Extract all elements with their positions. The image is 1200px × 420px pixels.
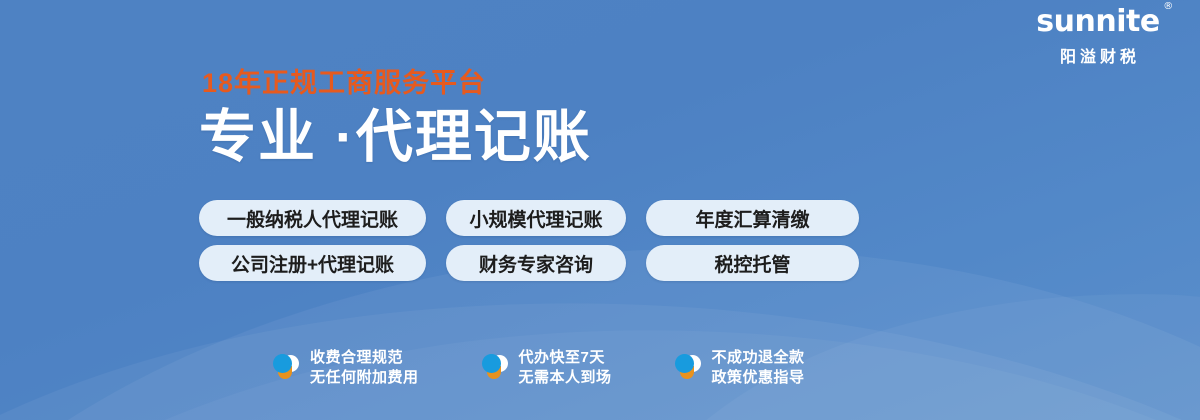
feature-text: 不成功退全款 政策优惠指导 [712,348,805,389]
service-pill-group: 一般纳税人代理记账 小规模代理记账 年度汇算清缴 公司注册+代理记账 财务专家咨… [199,200,919,290]
feature-item: 不成功退全款 政策优惠指导 [674,348,805,389]
circle-shape [675,354,694,373]
feature-list: 收费合理规范 无任何附加费用 代办快至7天 无需本人到场 不成功退全款 [272,348,805,389]
logo-wordmark: sunnite ® [1036,6,1159,38]
circle-badge-icon [674,352,702,384]
service-pill[interactable]: 财务专家咨询 [446,245,626,281]
feature-line-1: 收费合理规范 [310,349,403,366]
feature-line-1: 代办快至7天 [519,349,605,366]
circle-shape [482,354,501,373]
promo-banner: sunnite ® 阳溢财税 18年正规工商服务平台 专业 ·代理记账 一般纳税… [0,0,1200,420]
feature-text: 收费合理规范 无任何附加费用 [310,348,419,389]
feature-line-1: 不成功退全款 [712,349,805,366]
feature-item: 代办快至7天 无需本人到场 [481,348,612,389]
service-pill[interactable]: 小规模代理记账 [446,200,626,236]
feature-text: 代办快至7天 无需本人到场 [519,348,612,389]
brand-logo[interactable]: sunnite ® 阳溢财税 [1014,6,1182,67]
service-pill[interactable]: 公司注册+代理记账 [199,245,426,281]
circle-badge-icon [272,352,300,384]
feature-line-2: 无任何附加费用 [310,369,419,386]
hero-tagline: 18年正规工商服务平台 [202,70,592,97]
registered-trademark-icon: ® [1163,2,1173,12]
service-pill[interactable]: 一般纳税人代理记账 [199,200,426,236]
logo-wordmark-text: sunnite [1036,4,1159,39]
feature-line-2: 政策优惠指导 [712,369,805,386]
service-pill[interactable]: 年度汇算清缴 [646,200,859,236]
service-pill[interactable]: 税控托管 [646,245,859,281]
service-pill-row: 公司注册+代理记账 财务专家咨询 税控托管 [199,245,919,281]
feature-item: 收费合理规范 无任何附加费用 [272,348,419,389]
circle-badge-icon [481,352,509,384]
hero-copy: 18年正规工商服务平台 专业 ·代理记账 [199,70,592,166]
logo-chinese-name: 阳溢财税 [1014,43,1182,67]
service-pill-row: 一般纳税人代理记账 小规模代理记账 年度汇算清缴 [199,200,919,236]
hero-headline: 专业 ·代理记账 [199,109,592,166]
feature-line-2: 无需本人到场 [519,369,612,386]
